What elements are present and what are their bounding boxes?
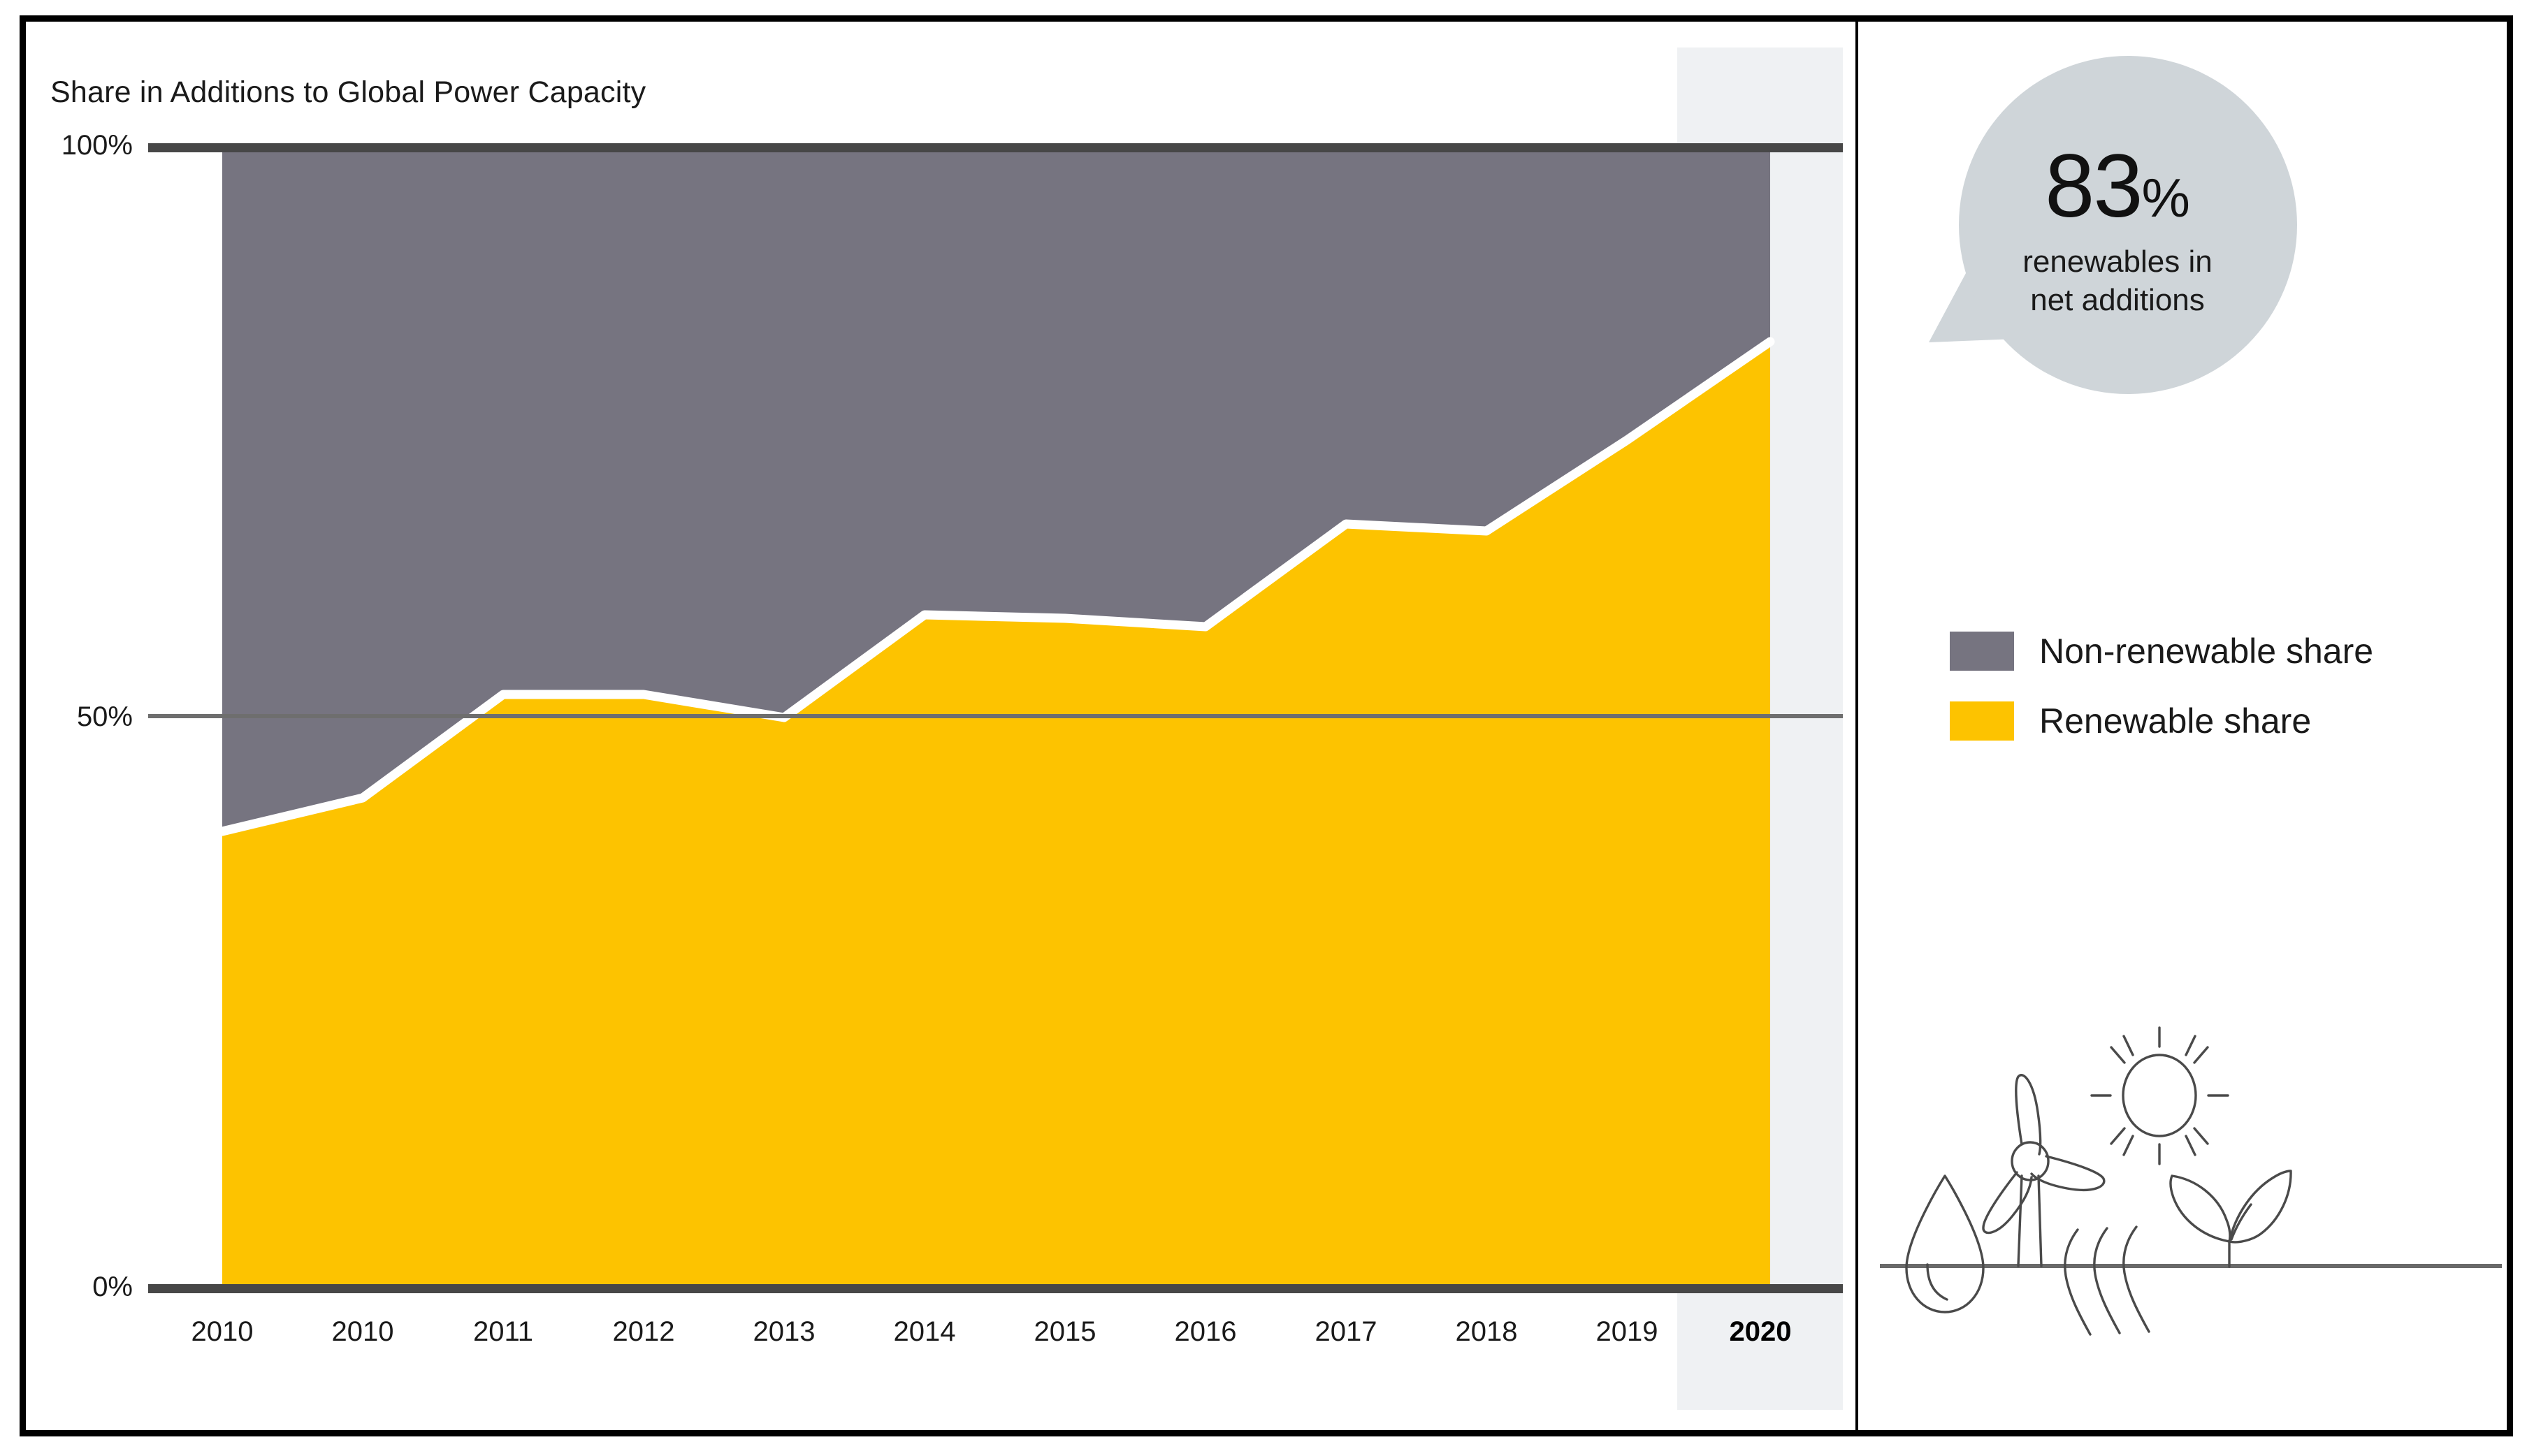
- renewables-illustration: [1880, 1006, 2502, 1341]
- legend-swatch-non-renewable: [1950, 632, 2014, 671]
- plant-sprout-icon: [2171, 1171, 2291, 1267]
- panel-divider: [1855, 22, 1858, 1430]
- x-tick-label-5: 2014: [855, 1316, 994, 1348]
- legend-label-non-renewable: Non-renewable share: [2039, 631, 2373, 671]
- x-tick-label-11: 2020: [1690, 1316, 1830, 1348]
- stacked-area-chart: [0, 0, 1855, 1456]
- callout-bubble-circle: [1959, 56, 2297, 394]
- y-tick-label-100: 100%: [28, 130, 133, 161]
- legend-item-non-renewable[interactable]: Non-renewable share: [1950, 629, 2373, 674]
- chart-legend: Non-renewable share Renewable share: [1950, 629, 2373, 769]
- geothermal-waves-icon: [2065, 1227, 2149, 1334]
- chart-panel: Share in Additions to Global Power Capac…: [0, 0, 1855, 1456]
- water-droplet-icon: [1906, 1176, 1983, 1312]
- x-tick-label-4: 2013: [714, 1316, 854, 1348]
- axis-line-top: [148, 143, 1843, 152]
- y-tick-label-50: 50%: [28, 701, 133, 733]
- callout-bubble: 83% renewables in net additions: [1929, 42, 2306, 419]
- x-axis-tick-labels: 2010 2010 2011 2012 2013 2014 2015 2016 …: [0, 1316, 1855, 1365]
- x-tick-label-7: 2016: [1136, 1316, 1275, 1348]
- x-tick-label-10: 2019: [1557, 1316, 1697, 1348]
- wind-turbine-icon: [1983, 1075, 2104, 1266]
- x-tick-label-3: 2012: [574, 1316, 714, 1348]
- x-tick-label-9: 2018: [1417, 1316, 1556, 1348]
- x-tick-label-0: 2010: [152, 1316, 292, 1348]
- x-tick-label-6: 2015: [995, 1316, 1135, 1348]
- y-tick-label-0: 0%: [28, 1272, 133, 1303]
- legend-label-renewable: Renewable share: [2039, 701, 2311, 741]
- axis-line-bottom: [148, 1284, 1843, 1293]
- callout-bubble-shape: [1929, 42, 2306, 419]
- gridline-50-percent: [148, 714, 1843, 718]
- legend-swatch-renewable: [1950, 701, 2014, 741]
- sun-icon: [2092, 1028, 2228, 1164]
- renewables-illustration-svg: [1880, 1006, 2502, 1341]
- x-tick-label-2: 2011: [433, 1316, 573, 1348]
- x-tick-label-1: 2010: [293, 1316, 433, 1348]
- x-tick-label-8: 2017: [1276, 1316, 1416, 1348]
- figure-root: Share in Additions to Global Power Capac…: [0, 0, 2534, 1456]
- legend-item-renewable[interactable]: Renewable share: [1950, 699, 2373, 743]
